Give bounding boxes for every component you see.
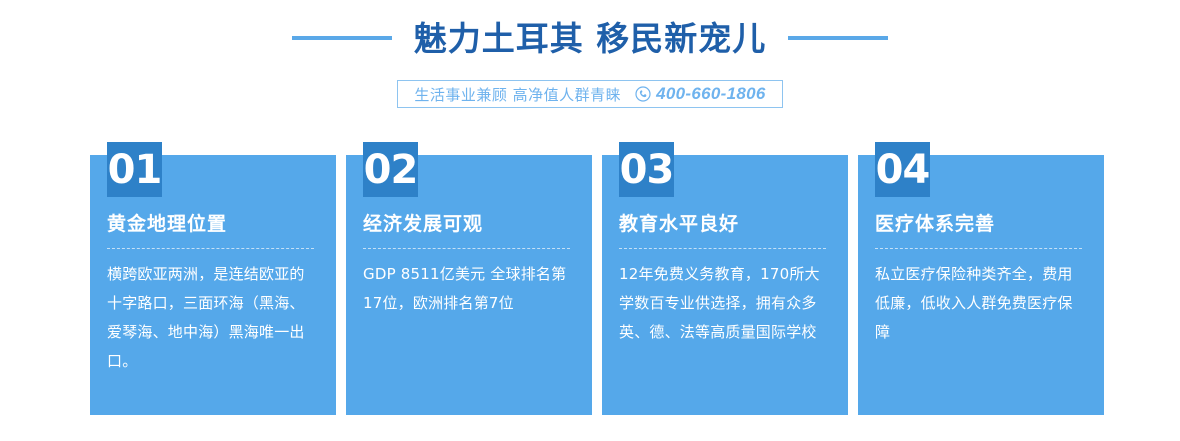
feature-card-list: 01 黄金地理位置 横跨欧亚两洲，是连结欧亚的十字路口，三面环海（黑海、爱琴海、… (90, 142, 1090, 415)
title-rule-right (788, 36, 888, 40)
card-text: 私立医疗保险种类齐全，费用低廉，低收入人群免费医疗保障 (875, 260, 1087, 347)
card-number: 03 (620, 150, 674, 190)
card-body: 经济发展可观 GDP 8511亿美元 全球排名第17位，欧洲排名第7位 (363, 212, 575, 318)
feature-card-02[interactable]: 02 经济发展可观 GDP 8511亿美元 全球排名第17位，欧洲排名第7位 (346, 142, 592, 415)
subtitle-text: 生活事业兼顾 高净值人群青睐 (414, 84, 621, 105)
title-row: 魅力土耳其 移民新宠儿 (0, 12, 1180, 64)
card-heading: 黄金地理位置 (107, 212, 319, 237)
title-rule-left (292, 36, 392, 40)
card-heading: 教育水平良好 (619, 212, 831, 237)
card-heading: 经济发展可观 (363, 212, 575, 237)
feature-card-04[interactable]: 04 医疗体系完善 私立医疗保险种类齐全，费用低廉，低收入人群免费医疗保障 (858, 142, 1104, 415)
card-heading: 医疗体系完善 (875, 212, 1087, 237)
card-text: 横跨欧亚两洲，是连结欧亚的十字路口，三面环海（黑海、爱琴海、地中海）黑海唯一出口… (107, 260, 319, 376)
card-number-badge: 04 (875, 142, 930, 197)
card-divider (619, 248, 826, 249)
card-number: 04 (876, 150, 930, 190)
feature-card-01[interactable]: 01 黄金地理位置 横跨欧亚两洲，是连结欧亚的十字路口，三面环海（黑海、爱琴海、… (90, 142, 336, 415)
page-title: 魅力土耳其 移民新宠儿 (414, 22, 767, 55)
page-header: 魅力土耳其 移民新宠儿 生活事业兼顾 高净值人群青睐 400-660-1806 (0, 0, 1180, 125)
card-divider (363, 248, 570, 249)
card-body: 黄金地理位置 横跨欧亚两洲，是连结欧亚的十字路口，三面环海（黑海、爱琴海、地中海… (107, 212, 319, 376)
card-number: 01 (108, 150, 162, 190)
card-text: GDP 8511亿美元 全球排名第17位，欧洲排名第7位 (363, 260, 575, 318)
card-body: 医疗体系完善 私立医疗保险种类齐全，费用低廉，低收入人群免费医疗保障 (875, 212, 1087, 347)
card-number-badge: 03 (619, 142, 674, 197)
phone-group[interactable]: 400-660-1806 (635, 84, 765, 104)
card-body: 教育水平良好 12年免费义务教育，170所大学数百专业供选择，拥有众多英、德、法… (619, 212, 831, 347)
card-divider (107, 248, 314, 249)
card-number-badge: 02 (363, 142, 418, 197)
card-number-badge: 01 (107, 142, 162, 197)
feature-card-03[interactable]: 03 教育水平良好 12年免费义务教育，170所大学数百专业供选择，拥有众多英、… (602, 142, 848, 415)
card-text: 12年免费义务教育，170所大学数百专业供选择，拥有众多英、德、法等高质量国际学… (619, 260, 831, 347)
phone-circle-icon (635, 86, 651, 102)
phone-number: 400-660-1806 (656, 84, 765, 104)
subtitle-wrap: 生活事业兼顾 高净值人群青睐 400-660-1806 (0, 80, 1180, 108)
card-divider (875, 248, 1082, 249)
card-number: 02 (364, 150, 418, 190)
subtitle-box: 生活事业兼顾 高净值人群青睐 400-660-1806 (397, 80, 782, 108)
